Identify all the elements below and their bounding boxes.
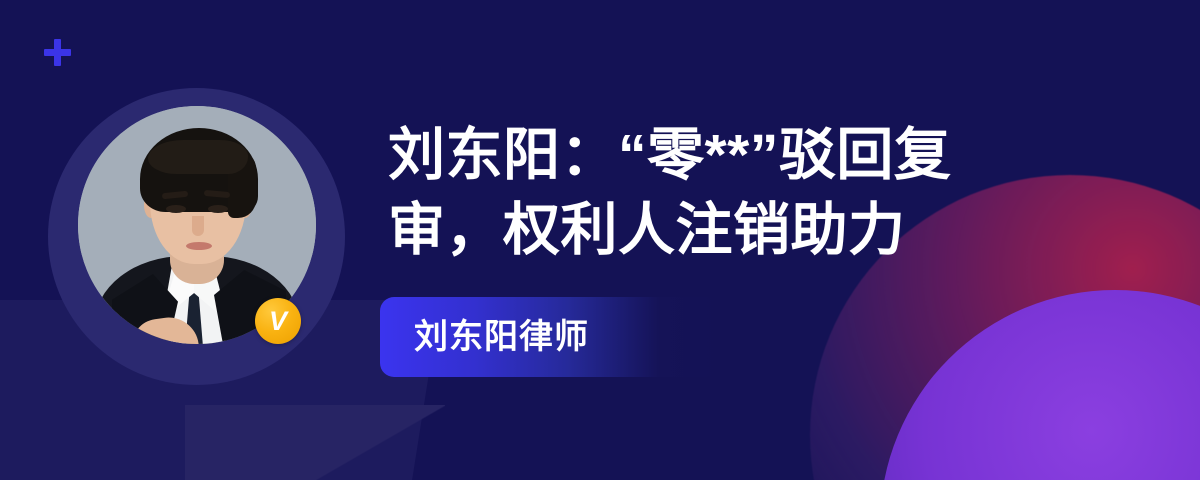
verified-badge-icon: V	[255, 298, 301, 344]
portrait-fringe	[148, 140, 248, 174]
lawyer-name-button[interactable]: 刘东阳律师	[380, 297, 720, 377]
plus-icon	[44, 39, 71, 66]
portrait-mouth	[186, 242, 212, 250]
headline-block: 刘东阳：“零**”驳回复 审，权利人注销助力	[388, 118, 1178, 267]
avatar[interactable]: V	[48, 88, 345, 385]
portrait-nose	[192, 216, 204, 236]
page-title: 刘东阳：“零**”驳回复 审，权利人注销助力	[388, 118, 1178, 267]
banner-canvas: V 刘东阳：“零**”驳回复 审，权利人注销助力 刘东阳律师	[0, 0, 1200, 480]
portrait-eye-right	[208, 205, 228, 213]
lawyer-name-label: 刘东阳律师	[414, 320, 589, 354]
portrait-eye-left	[166, 205, 186, 213]
decor-polygon-triangle	[185, 405, 445, 480]
decor-corner-glow-purple	[880, 290, 1200, 480]
